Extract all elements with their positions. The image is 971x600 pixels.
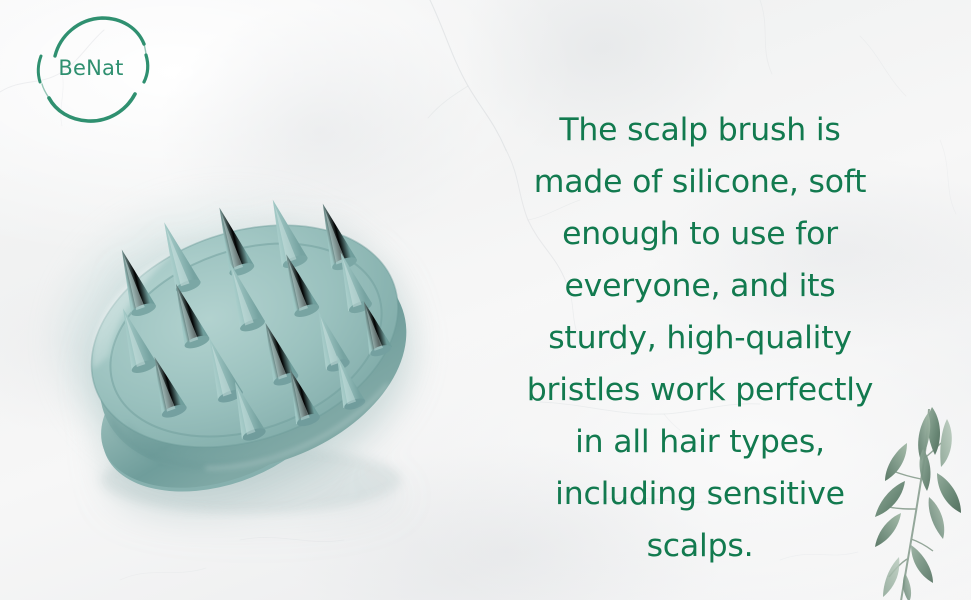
olive-branch-icon — [871, 397, 971, 600]
product-description-text: The scalp brush is made of silicone, sof… — [500, 104, 900, 572]
scalp-brush-illustration — [46, 150, 446, 520]
product-image-scalp-brush — [46, 150, 446, 520]
benat-logo[interactable]: BeNat — [28, 10, 154, 132]
logo-wordmark: BeNat — [28, 56, 154, 80]
product-banner: BeNat — [0, 0, 971, 600]
olive-branch-decoration — [871, 397, 971, 600]
